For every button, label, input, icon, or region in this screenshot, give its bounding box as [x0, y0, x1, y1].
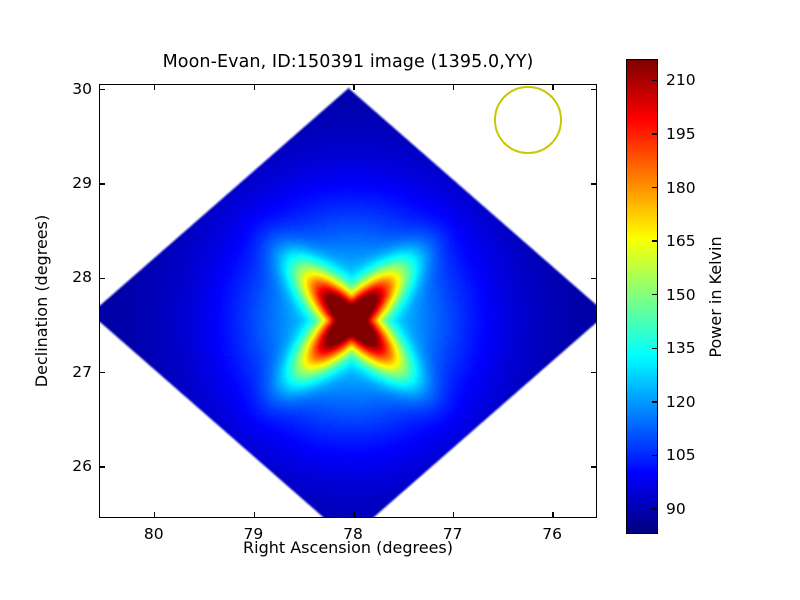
y-tick-label: 29: [72, 174, 92, 192]
x-tick-mark: [154, 85, 155, 90]
colorbar-tick-mark: [652, 455, 658, 456]
y-tick-mark: [591, 183, 596, 184]
y-tick-mark: [100, 183, 105, 184]
colorbar-tick-label: 150: [666, 286, 696, 304]
colorbar-tick-mark: [652, 348, 658, 349]
y-tick-mark: [591, 89, 596, 90]
y-tick-label: 30: [72, 80, 92, 98]
x-tick-mark: [552, 85, 553, 90]
colorbar-tick-mark: [652, 508, 658, 509]
figure-canvas: Moon-Evan, ID:150391 image (1395.0,YY) 8…: [0, 0, 800, 600]
y-axis-label: Declination (degrees): [32, 215, 51, 387]
colorbar-tick-label: 105: [666, 446, 696, 464]
colorbar-tick-label: 120: [666, 393, 696, 411]
colorbar-label: Power in Kelvin: [706, 236, 725, 357]
colorbar-tick-mark: [652, 401, 658, 402]
y-tick-label: 26: [72, 457, 92, 475]
y-tick-mark: [591, 466, 596, 467]
colorbar-tick-label: 135: [666, 339, 696, 357]
x-tick-mark: [254, 85, 255, 90]
sky-image-axes[interactable]: [99, 84, 597, 518]
chart-title: Moon-Evan, ID:150391 image (1395.0,YY): [99, 52, 597, 72]
y-tick-mark: [591, 278, 596, 279]
x-tick-mark: [453, 85, 454, 90]
colorbar-tick-label: 180: [666, 179, 696, 197]
colorbar-tick-mark: [652, 187, 658, 188]
x-tick-mark: [353, 512, 354, 517]
beam-circle-annotation: [494, 86, 562, 154]
colorbar-tick-mark: [652, 80, 658, 81]
colorbar-tick-label: 90: [666, 500, 686, 518]
x-axis-label: Right Ascension (degrees): [99, 538, 597, 557]
y-tick-mark: [100, 89, 105, 90]
colorbar-tick-label: 210: [666, 71, 696, 89]
colorbar-tick-label: 165: [666, 232, 696, 250]
y-tick-mark: [100, 278, 105, 279]
colorbar-tick-mark: [652, 294, 658, 295]
x-tick-mark: [453, 512, 454, 517]
x-tick-mark: [353, 85, 354, 90]
colorbar[interactable]: [626, 59, 658, 534]
y-tick-label: 27: [72, 363, 92, 381]
colorbar-tick-mark: [652, 133, 658, 134]
y-tick-mark: [591, 372, 596, 373]
y-tick-label: 28: [72, 268, 92, 286]
x-tick-mark: [254, 512, 255, 517]
y-tick-mark: [100, 466, 105, 467]
x-tick-mark: [154, 512, 155, 517]
colorbar-tick-label: 195: [666, 125, 696, 143]
x-tick-mark: [552, 512, 553, 517]
colorbar-tick-mark: [652, 240, 658, 241]
y-tick-mark: [100, 372, 105, 373]
